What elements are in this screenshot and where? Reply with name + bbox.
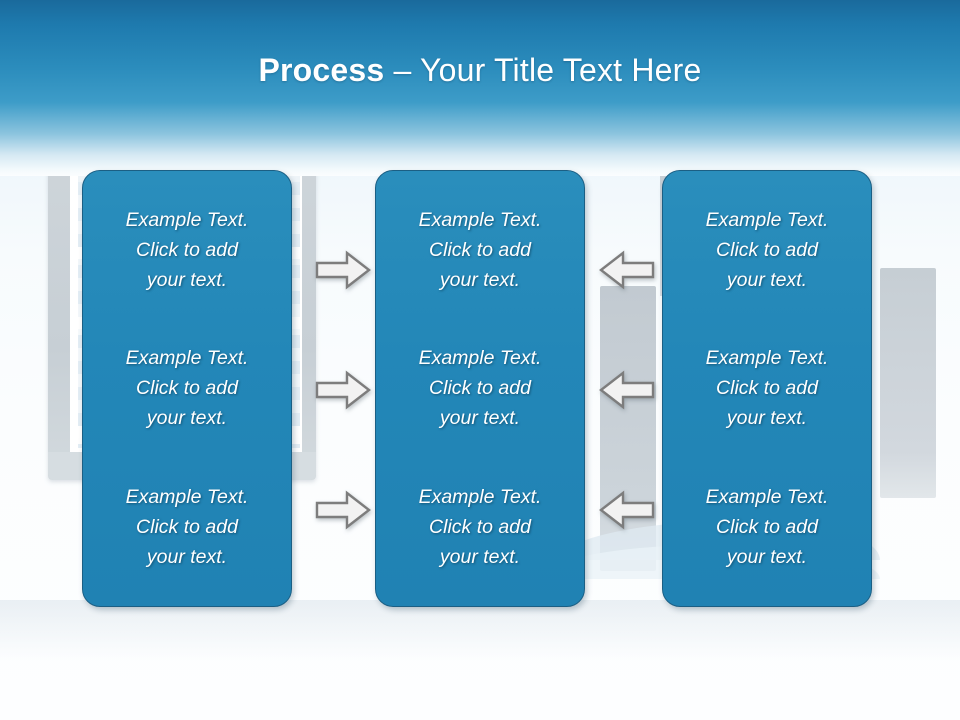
- arrow-right-icon[interactable]: [314, 488, 372, 532]
- content-text-2-1[interactable]: Example Text. Click to add your text.: [387, 205, 573, 295]
- arrow-left-icon[interactable]: [598, 368, 656, 412]
- decorative-bar-right: [880, 268, 936, 498]
- content-text-1-1[interactable]: Example Text. Click to add your text.: [94, 205, 280, 295]
- page-title-rest: – Your Title Text Here: [384, 52, 701, 88]
- content-box-2[interactable]: Example Text. Click to add your text. Ex…: [375, 170, 585, 607]
- arrow-right-icon[interactable]: [314, 368, 372, 412]
- content-text-3-1[interactable]: Example Text. Click to add your text.: [674, 205, 860, 295]
- floor-shadow: [0, 600, 960, 660]
- slide-canvas: 1.4665.2295.5.8001.4225.5.3281.0542.2.57…: [0, 0, 960, 720]
- arrow-right-icon[interactable]: [314, 248, 372, 292]
- content-box-1[interactable]: Example Text. Click to add your text. Ex…: [82, 170, 292, 607]
- content-box-3[interactable]: Example Text. Click to add your text. Ex…: [662, 170, 872, 607]
- content-text-1-3[interactable]: Example Text. Click to add your text.: [94, 482, 280, 572]
- content-text-2-2[interactable]: Example Text. Click to add your text.: [387, 343, 573, 433]
- page-title: Process – Your Title Text Here: [0, 50, 960, 90]
- content-text-3-3[interactable]: Example Text. Click to add your text.: [674, 482, 860, 572]
- content-text-1-2[interactable]: Example Text. Click to add your text.: [94, 343, 280, 433]
- content-text-3-2[interactable]: Example Text. Click to add your text.: [674, 343, 860, 433]
- content-text-2-3[interactable]: Example Text. Click to add your text.: [387, 482, 573, 572]
- arrow-left-icon[interactable]: [598, 248, 656, 292]
- arrow-left-icon[interactable]: [598, 488, 656, 532]
- page-title-bold: Process: [258, 52, 384, 88]
